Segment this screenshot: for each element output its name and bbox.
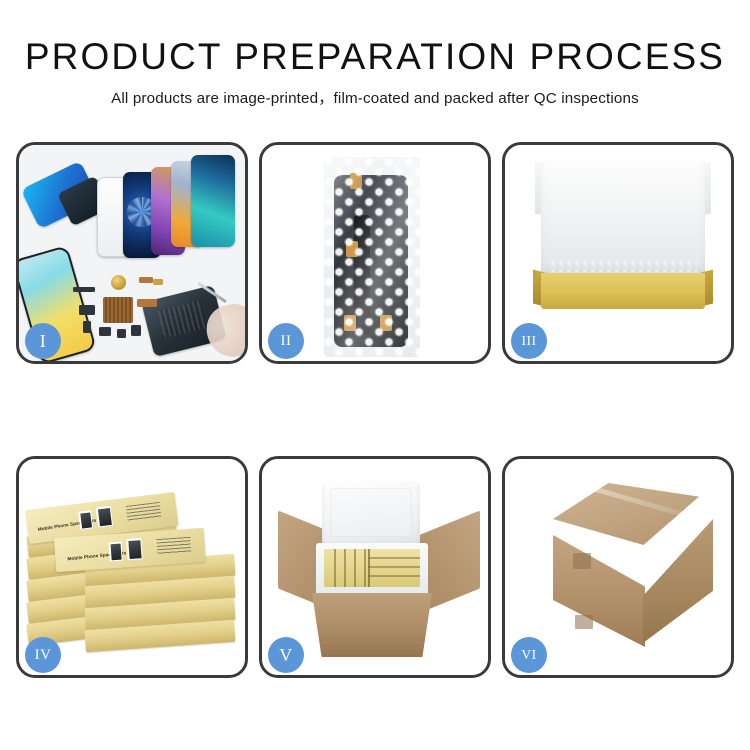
- yellow-boxes-inside: [324, 549, 420, 587]
- box-window-a: [108, 542, 122, 562]
- step-badge-6: VI: [511, 637, 547, 673]
- white-foam-lid: [541, 161, 705, 273]
- carton-tape-upper: [573, 553, 591, 569]
- step-badge-2: II: [268, 323, 304, 359]
- page-subtitle: All products are image-printed，film-coat…: [0, 86, 750, 108]
- box-window-b: [126, 538, 142, 560]
- box-window-b: [96, 506, 113, 528]
- logic-board-part: [103, 297, 133, 323]
- plastic-sheen: [324, 157, 420, 357]
- box-spec-lines: [126, 502, 162, 522]
- carton-left-face: [553, 535, 645, 647]
- camera-module-part: [79, 305, 95, 315]
- retail-box-stack: Mobile Phone Spare Parts Mobile Phone Sp…: [25, 475, 245, 671]
- page-title: PRODUCT PREPARATION PROCESS: [0, 38, 750, 77]
- step-panel-6: VI: [502, 456, 734, 678]
- carton-front-panel: [312, 593, 432, 657]
- sim-tray-part: [83, 321, 91, 333]
- box-window-a: [78, 510, 93, 529]
- yellow-inner-box-front: [541, 273, 705, 309]
- box-spec-lines: [156, 537, 191, 555]
- step-panel-1: I: [16, 142, 248, 364]
- styrofoam-lid: [322, 481, 420, 547]
- step-badge-1: I: [25, 323, 61, 359]
- gold-connector-part: [153, 279, 163, 285]
- carton-tape-lower: [575, 615, 593, 629]
- step-panel-3: III: [502, 142, 734, 364]
- header: PRODUCT PREPARATION PROCESS All products…: [0, 38, 750, 108]
- step-panel-5: V: [259, 456, 491, 678]
- antenna-flex-part: [137, 299, 157, 307]
- vibration-motor-part: [111, 275, 126, 290]
- step-badge-4: IV: [25, 637, 61, 673]
- screw-set-part: [99, 327, 111, 336]
- step-panel-4: Mobile Phone Spare Parts Mobile Phone Sp…: [16, 456, 248, 678]
- sealed-carton: [527, 483, 713, 655]
- step-badge-3: III: [511, 323, 547, 359]
- step-badge-5: V: [268, 637, 304, 673]
- step-panel-2: II: [259, 142, 491, 364]
- bubble-wrap-bag: [324, 157, 420, 357]
- product-preparation-infographic: PRODUCT PREPARATION PROCESS All products…: [0, 0, 750, 750]
- carton-right-face: [643, 519, 713, 643]
- process-steps-grid: I II: [16, 142, 734, 678]
- speaker-mesh-part: [131, 325, 141, 336]
- button-part: [117, 329, 126, 338]
- flex-cable-part: [139, 277, 153, 283]
- teal-swirl-phone: [191, 155, 235, 247]
- earpiece-speaker-part: [73, 287, 95, 292]
